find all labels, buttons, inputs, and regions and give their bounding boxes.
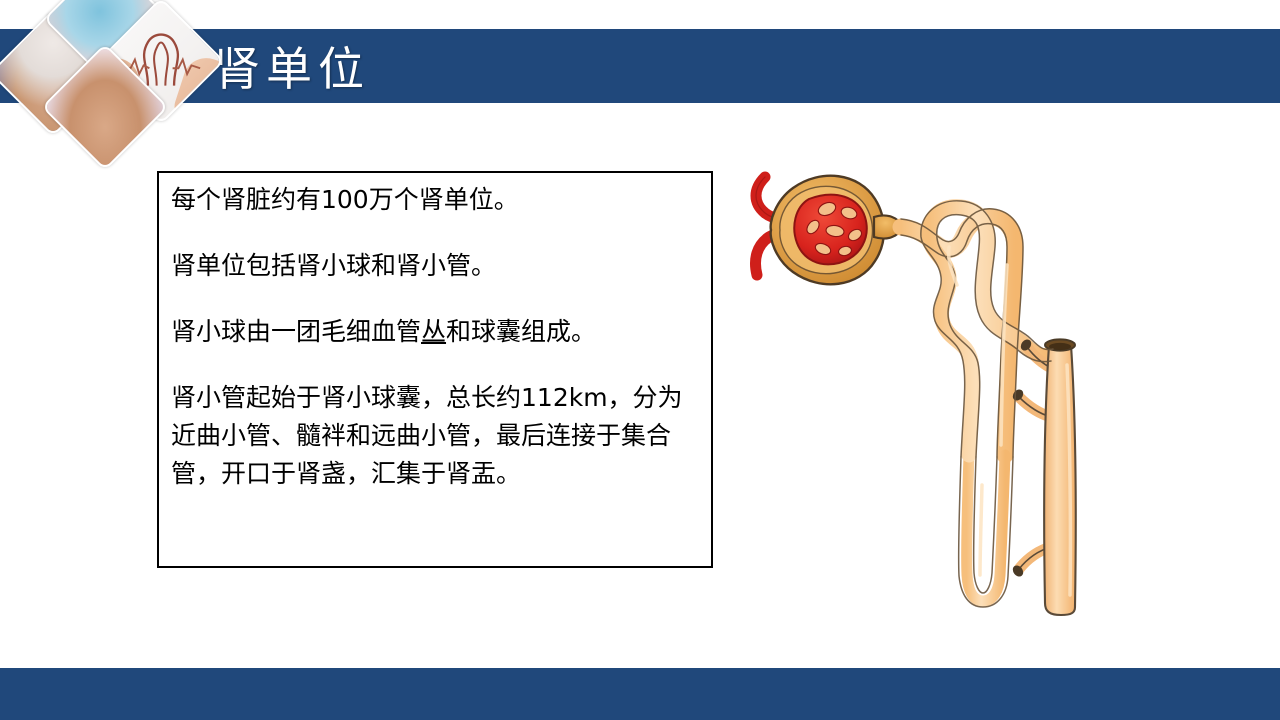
- textbox-paragraph-3: 肾小球由一团毛细血管丛和球囊组成。: [171, 313, 701, 351]
- paragraph-3-before: 肾小球由一团毛细血管: [171, 317, 421, 346]
- page-title: 肾单位: [214, 29, 370, 103]
- textbox-paragraph-2: 肾单位包括肾小球和肾小管。: [171, 247, 701, 285]
- nephron-diagram: [735, 155, 1095, 625]
- footer-bar: [0, 668, 1280, 720]
- textbox-paragraph-1: 每个肾脏约有100万个肾单位。: [171, 181, 701, 219]
- renal-corpuscle-group: [756, 176, 904, 285]
- paragraph-3-marked-word: 丛: [421, 317, 446, 346]
- slide-root: 肾单位 每个肾脏约有100万个肾单位。: [0, 0, 1280, 720]
- loop-of-henle: [967, 455, 1005, 601]
- textbox-paragraph-4: 肾小管起始于肾小球囊，总长约112km，分为近曲小管、髓袢和远曲小管，最后连接于…: [171, 379, 701, 493]
- paragraph-3-after: 和球囊组成。: [446, 317, 596, 346]
- content-textbox: 每个肾脏约有100万个肾单位。 肾单位包括肾小球和肾小管。 肾小球由一团毛细血管…: [157, 171, 713, 568]
- photo-collage: [0, 0, 210, 140]
